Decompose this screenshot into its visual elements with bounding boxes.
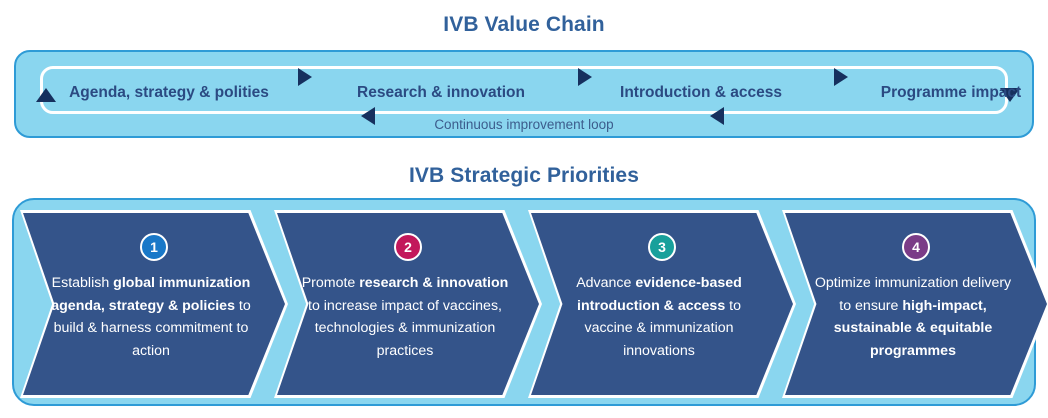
priority-badge-1: 1 xyxy=(140,233,168,261)
arrow-right-icon-1 xyxy=(298,68,312,86)
value-chain-stage-introduction[interactable]: Introduction & access xyxy=(576,80,826,106)
value-chain-panel: Agenda, strategy & polities Research & i… xyxy=(14,50,1034,138)
strategic-priorities-panel: 1 Establish global immunization agenda, … xyxy=(12,198,1036,406)
priority-badge-3: 3 xyxy=(648,233,676,261)
value-chain-stage-programme-impact[interactable]: Programme impact xyxy=(826,80,1048,106)
strategic-priorities-title: IVB Strategic Priorities xyxy=(0,155,1048,186)
value-chain-title: IVB Value Chain xyxy=(0,0,1048,35)
priority-badge-4: 4 xyxy=(902,233,930,261)
strategic-priorities-chevron-row: 1 Establish global immunization agenda, … xyxy=(14,200,1034,404)
priority-chevron-1[interactable]: 1 Establish global immunization agenda, … xyxy=(20,210,288,398)
priority-badge-2: 2 xyxy=(394,233,422,261)
priority-text-4: Optimize immunization delivery to ensure… xyxy=(808,272,1018,362)
value-chain-stage-agenda[interactable]: Agenda, strategy & polities xyxy=(44,80,294,106)
priority-chevron-3[interactable]: 3 Advance evidence-based introduction & … xyxy=(528,210,796,398)
priority-text-1: Establish global immunization agenda, st… xyxy=(46,272,256,362)
value-chain-stage-research[interactable]: Research & innovation xyxy=(316,80,566,106)
priority-chevron-2[interactable]: 2 Promote research & innovation to incre… xyxy=(274,210,542,398)
priority-text-2: Promote research & innovation to increas… xyxy=(300,272,510,362)
priority-chevron-4[interactable]: 4 Optimize immunization delivery to ensu… xyxy=(782,210,1048,398)
priority-text-3: Advance evidence-based introduction & ac… xyxy=(554,272,764,362)
continuous-improvement-loop-label: Continuous improvement loop xyxy=(16,117,1032,133)
